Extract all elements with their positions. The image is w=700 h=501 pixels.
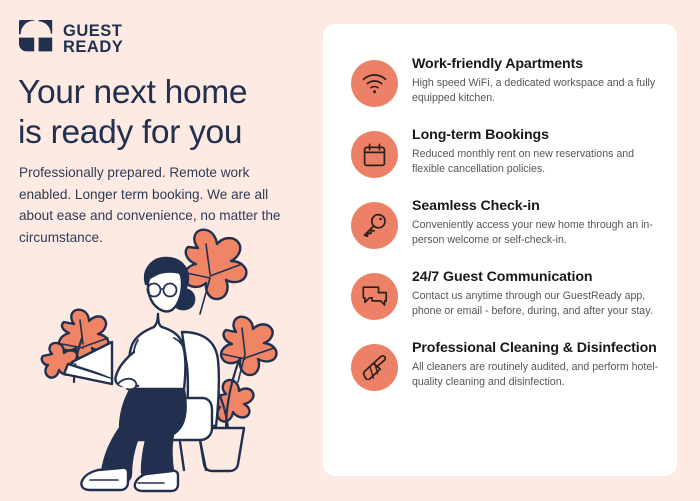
brand-wordmark: GUEST READY (63, 23, 123, 55)
feature-title: Long-term Bookings (412, 126, 661, 144)
promo-page: GUEST READY Your next home is ready for … (0, 0, 700, 500)
feature-item-long-term-bookings[interactable]: Long-term Bookings Reduced monthly rent … (323, 125, 677, 178)
feature-item-work-friendly-apartments[interactable]: Work-friendly Apartments High speed WiFi… (323, 54, 677, 107)
key-icon (351, 202, 398, 249)
broom-icon (351, 344, 398, 391)
feature-text: Professional Cleaning & Disinfection All… (398, 338, 661, 389)
feature-item-professional-cleaning[interactable]: Professional Cleaning & Disinfection All… (323, 338, 677, 391)
feature-description: Reduced monthly rent on new reservations… (412, 147, 661, 176)
feature-description: All cleaners are routinely audited, and … (412, 360, 661, 389)
feature-text: Seamless Check-in Conveniently access yo… (398, 196, 661, 247)
brand-logo[interactable]: GUEST READY (19, 20, 123, 57)
feature-text: Work-friendly Apartments High speed WiFi… (398, 54, 661, 105)
woman-working-on-laptop-in-armchair-with-plants-illustration (30, 228, 315, 496)
page-title: Your next home is ready for you (18, 73, 308, 153)
wifi-icon (351, 60, 398, 107)
feature-item-seamless-check-in[interactable]: Seamless Check-in Conveniently access yo… (323, 196, 677, 249)
feature-text: Long-term Bookings Reduced monthly rent … (398, 125, 661, 176)
hero-column: GUEST READY Your next home is ready for … (0, 0, 318, 500)
feature-title: Seamless Check-in (412, 197, 661, 215)
feature-description: Conveniently access your new home throug… (412, 218, 661, 247)
feature-item-guest-communication[interactable]: 24/7 Guest Communication Contact us anyt… (323, 267, 677, 320)
guestready-logo-icon (19, 20, 53, 57)
calendar-icon (351, 131, 398, 178)
feature-description: High speed WiFi, a dedicated workspace a… (412, 76, 661, 105)
feature-title: Work-friendly Apartments (412, 55, 661, 73)
features-card: Work-friendly Apartments High speed WiFi… (323, 24, 677, 476)
chat-bubbles-icon (351, 273, 398, 320)
feature-text: 24/7 Guest Communication Contact us anyt… (398, 267, 661, 318)
feature-description: Contact us anytime through our GuestRead… (412, 289, 661, 318)
feature-title: 24/7 Guest Communication (412, 268, 661, 286)
feature-title: Professional Cleaning & Disinfection (412, 339, 661, 357)
